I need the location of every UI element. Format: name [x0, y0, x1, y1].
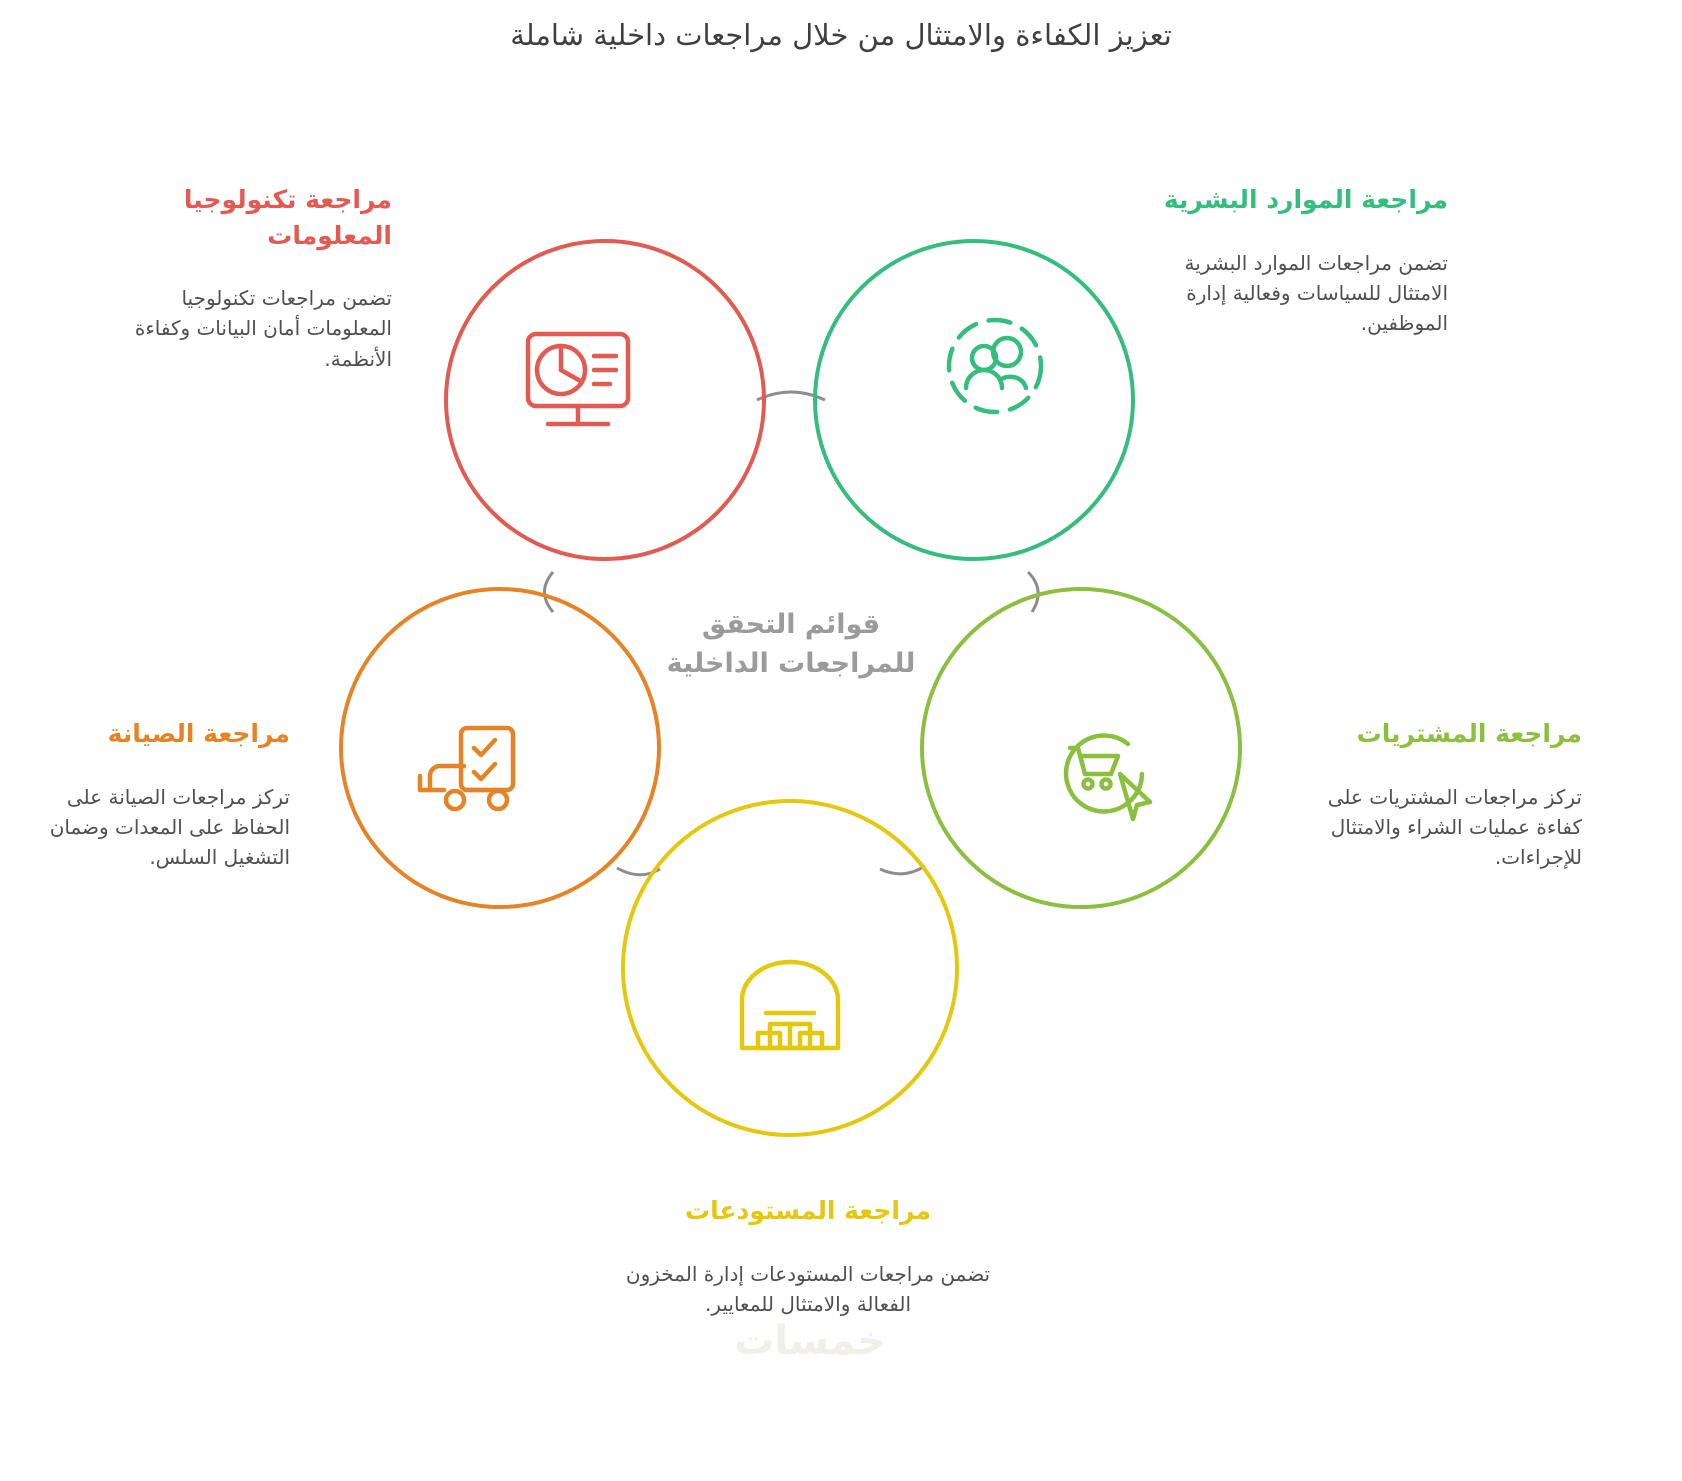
- segment-description-procurement: تركز مراجعات المشتريات على كفاءة عمليات …: [1282, 782, 1582, 873]
- segment-block-procurement: مراجعة المشتريات تركز مراجعات المشتريات …: [1282, 716, 1582, 873]
- people-group-icon: [949, 320, 1041, 412]
- segment-description-maintenance: تركز مراجعات الصيانة على الحفاظ على المع…: [10, 782, 290, 873]
- circle-hr: [815, 241, 1133, 559]
- segment-description-warehouse: تضمن مراجعات المستودعات إدارة المخزون ال…: [612, 1259, 1004, 1320]
- truck-checklist-icon: [420, 728, 513, 809]
- segment-title-hr: مراجعة الموارد البشرية: [1152, 182, 1448, 218]
- center-label-line2: للمراجعات الداخلية: [641, 644, 941, 683]
- segment-description-hr: تضمن مراجعات الموارد البشرية الامتثال لل…: [1152, 248, 1448, 339]
- segment-title-procurement: مراجعة المشتريات: [1282, 716, 1582, 752]
- segment-title-warehouse: مراجعة المستودعات: [612, 1193, 1004, 1229]
- circle-procurement: [922, 589, 1240, 907]
- segment-block-warehouse: مراجعة المستودعات تضمن مراجعات المستودعا…: [612, 1193, 1004, 1319]
- center-label: قوائم التحقق للمراجعات الداخلية: [641, 605, 941, 683]
- segment-block-it: مراجعة تكنولوجيا المعلومات تضمن مراجعات …: [96, 182, 392, 374]
- segment-block-hr: مراجعة الموارد البشرية تضمن مراجعات المو…: [1152, 182, 1448, 339]
- warehouse-boxes-icon: [742, 962, 838, 1048]
- circle-it: [446, 241, 764, 559]
- watermark: خمسات: [660, 1318, 960, 1364]
- segment-block-maintenance: مراجعة الصيانة تركز مراجعات الصيانة على …: [10, 716, 290, 873]
- shopping-cart-cursor-icon: [1066, 735, 1150, 819]
- circle-warehouse: [623, 801, 957, 1135]
- monitor-pie-chart-icon: [528, 334, 628, 424]
- segment-title-maintenance: مراجعة الصيانة: [10, 716, 290, 752]
- circle-maintenance: [341, 589, 659, 907]
- segment-description-it: تضمن مراجعات تكنولوجيا المعلومات أمان ال…: [96, 283, 392, 374]
- center-label-line1: قوائم التحقق: [641, 605, 941, 644]
- segment-title-it: مراجعة تكنولوجيا المعلومات: [96, 182, 392, 253]
